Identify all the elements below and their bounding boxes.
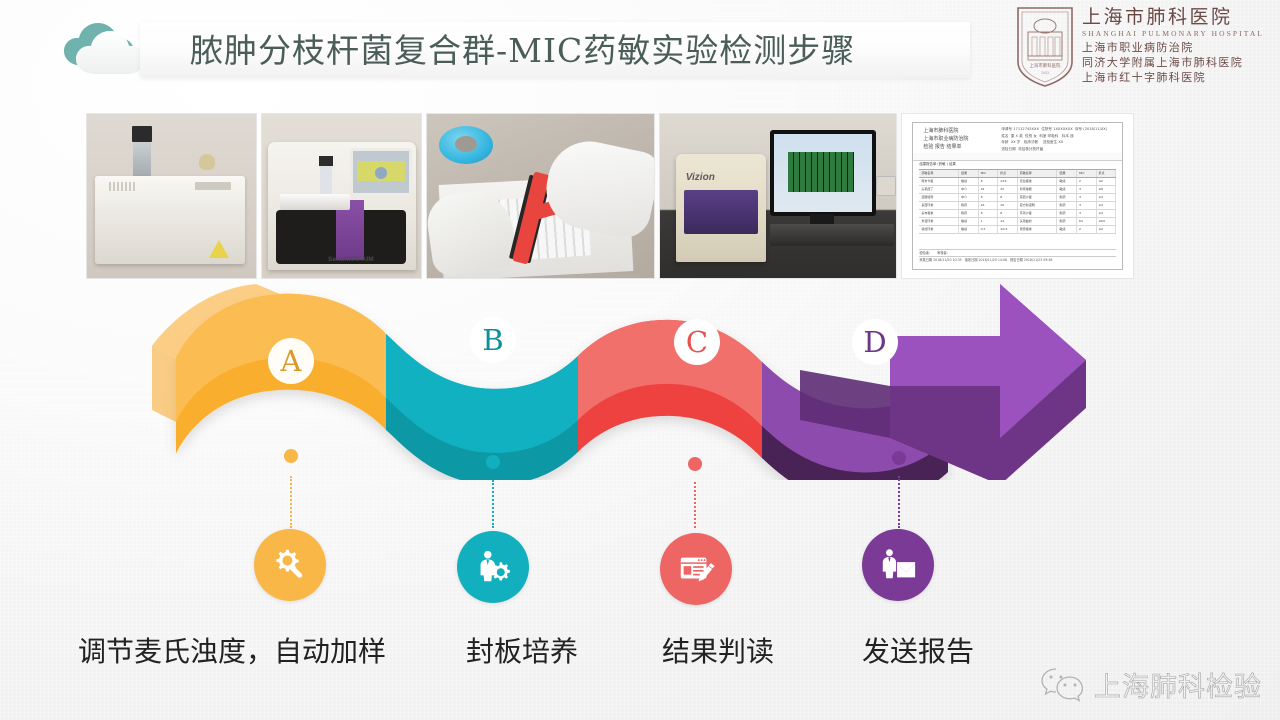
table-cell: 耐药 xyxy=(1057,202,1077,209)
step-badge-C: C xyxy=(674,319,720,365)
watermark: 上海肺科检验 xyxy=(1040,662,1262,706)
step-badge-B: B xyxy=(470,317,516,363)
photo-vizion-reader: Vizion xyxy=(659,113,898,279)
hospital-crest-icon: 上海市肺科医院 1933 xyxy=(1014,4,1076,88)
connector-line-C xyxy=(694,482,698,528)
table-cell: 16 xyxy=(979,202,999,209)
watermark-text: 上海肺科检验 xyxy=(1094,665,1262,704)
report-title-3: 检验 报告 结果单 xyxy=(923,143,968,151)
table-cell: ≤2 xyxy=(1097,226,1117,233)
table-cell: ≤0.5 xyxy=(998,226,1018,233)
svg-text:B: B xyxy=(482,323,503,357)
table-cell: ≥4 xyxy=(1097,210,1117,217)
table-cell: 0.5 xyxy=(979,226,999,233)
table-row: 头孢西丁中介3232利奈唑胺敏感4≤8 xyxy=(919,186,1116,194)
report-section-label: 结果报告单 (药敏 ) 结果 xyxy=(919,161,955,166)
photo-brand-label: Sensititre AIM xyxy=(328,256,374,263)
table-cell: 8 xyxy=(979,194,999,201)
table-col-header: 药敏名称 xyxy=(919,170,959,177)
connector-line-D xyxy=(898,476,902,528)
table-cell: 利奈唑胺 xyxy=(1018,186,1058,193)
table-cell: 头孢曲松 xyxy=(1018,218,1058,225)
table-row: 替加环素敏感0.5≤0.5阿奇霉素敏感2≤2 xyxy=(919,226,1116,234)
connector-line-A xyxy=(290,476,294,528)
table-cell: 耐药 xyxy=(1057,210,1077,217)
report-title-2: 上海市职业病防治院 xyxy=(923,135,968,143)
table-cell: 敏感 xyxy=(1057,226,1077,233)
table-cell: 敏感 xyxy=(959,226,979,233)
table-cell: ≤16 xyxy=(998,178,1018,185)
table-cell: 多西环素 xyxy=(919,202,959,209)
logo-hospital-name-en: SHANGHAI PULMONARY HOSPITAL xyxy=(1082,28,1264,40)
svg-text:D: D xyxy=(863,325,886,359)
photo-brand-label: Vizion xyxy=(686,172,715,183)
logo-subtitle-1: 上海市职业病防治院 xyxy=(1082,40,1264,55)
table-cell: ≤8 xyxy=(1097,186,1117,193)
photo-strip: Sensititre AIM Vizion 上海 xyxy=(86,113,1134,279)
report-table: 药敏名称结果MIC折点药敏名称结果MIC折点 阿米卡星敏感8≤16克拉霉素敏感2… xyxy=(919,169,1116,227)
table-cell: 莫西沙星 xyxy=(1018,194,1058,201)
step-icon-A[interactable] xyxy=(254,529,326,601)
table-cell: ≥4 xyxy=(1097,202,1117,209)
table-cell: 阿奇霉素 xyxy=(1018,226,1058,233)
table-cell: 敏感 xyxy=(1057,186,1077,193)
report-footer: 检验者： 审核者： 采集日期 2018/11/20 10:35 接收日期 201… xyxy=(919,249,1116,263)
table-row: 亚胺培南中介88莫西沙星耐药4≥4 xyxy=(919,194,1116,202)
slide-canvas: 脓肿分枝杆菌复合群-MIC药敏实验检测步骤 上海市肺科医院 1933 xyxy=(0,0,1280,720)
table-col-header: MIC xyxy=(979,170,999,177)
page-title: 脓肿分枝杆菌复合群-MIC药敏实验检测步骤 xyxy=(190,26,1010,76)
slide-header: 脓肿分枝杆菌复合群-MIC药敏实验检测步骤 上海市肺科医院 1933 xyxy=(0,0,1280,100)
table-cell: ≤1 xyxy=(998,218,1018,225)
svg-text:上海市肺科医院: 上海市肺科医院 xyxy=(1030,62,1061,69)
step-caption-A: 调节麦氏浊度，自动加样 xyxy=(78,632,386,672)
form-pencil-icon xyxy=(677,550,715,588)
table-cell: 2 xyxy=(1077,178,1097,185)
gear-wrench-icon xyxy=(271,546,309,584)
step-icon-B[interactable] xyxy=(457,531,529,603)
table-col-header: MIC xyxy=(1077,170,1097,177)
table-cell: 复方新诺明 xyxy=(1018,202,1058,209)
table-cell: 16 xyxy=(998,202,1018,209)
flow-ribbon: A B C D xyxy=(0,270,1280,480)
step-caption-C: 结果判读 xyxy=(662,632,774,672)
photo-plate-sealing xyxy=(426,113,655,279)
ribbon-A-end-face xyxy=(152,346,176,422)
connector-dot-D xyxy=(892,451,906,465)
connector-dot-B xyxy=(486,455,500,469)
photo-incubator-instrument xyxy=(86,113,257,279)
step-badge-D: D xyxy=(852,319,898,365)
wechat-icon xyxy=(1040,666,1086,702)
table-cell: 32 xyxy=(998,186,1018,193)
person-envelope-icon xyxy=(879,546,917,584)
table-cell: 64 xyxy=(1077,218,1097,225)
logo-subtitle-3: 上海市红十字肺科医院 xyxy=(1082,70,1264,85)
step-caption-D: 发送报告 xyxy=(862,632,974,672)
table-row: 妥布霉素耐药88环丙沙星耐药4≥4 xyxy=(919,210,1116,218)
table-cell: 亚胺培南 xyxy=(919,194,959,201)
table-cell: 32 xyxy=(979,186,999,193)
table-cell: 1 xyxy=(979,218,999,225)
table-cell: 中介 xyxy=(959,194,979,201)
table-cell: 敏感 xyxy=(959,218,979,225)
photo-sensititre-aim: Sensititre AIM xyxy=(261,113,422,279)
table-cell: 米诺环素 xyxy=(919,218,959,225)
connector-line-B xyxy=(492,480,496,528)
table-cell: ≥4 xyxy=(1097,194,1117,201)
photo-lab-report: 上海市肺科医院 上海市职业病防治院 检验 报告 结果单 申请号 17112745… xyxy=(901,113,1134,279)
table-cell: 4 xyxy=(1077,202,1097,209)
step-icon-C[interactable] xyxy=(660,533,732,605)
table-cell: 4 xyxy=(1077,194,1097,201)
connector-dot-C xyxy=(688,457,702,471)
table-cell: 8 xyxy=(979,178,999,185)
table-col-header: 折点 xyxy=(998,170,1018,177)
hospital-logo: 上海市肺科医院 1933 上海市肺科医院 SHANGHAI PULMONARY … xyxy=(1014,4,1270,96)
svg-text:A: A xyxy=(280,344,303,378)
table-cell: 2 xyxy=(1077,226,1097,233)
svg-text:1933: 1933 xyxy=(1041,71,1049,75)
table-cell: 头孢西丁 xyxy=(919,186,959,193)
table-cell: 妥布霉素 xyxy=(919,210,959,217)
table-cell: 耐药 xyxy=(1057,194,1077,201)
report-title-1: 上海市肺科医院 xyxy=(923,127,968,135)
table-cell: 敏感 xyxy=(959,178,979,185)
table-row: 阿米卡星敏感8≤16克拉霉素敏感2≤2 xyxy=(919,178,1116,186)
table-cell: ≥64 xyxy=(1097,218,1117,225)
table-col-header: 结果 xyxy=(1057,170,1077,177)
table-cell: 耐药 xyxy=(959,202,979,209)
table-cell: 4 xyxy=(1077,186,1097,193)
table-cell: 耐药 xyxy=(959,210,979,217)
table-cell: 敏感 xyxy=(1057,178,1077,185)
table-cell: 8 xyxy=(998,210,1018,217)
table-row: 米诺环素敏感1≤1头孢曲松耐药64≥64 xyxy=(919,218,1116,226)
table-cell: 中介 xyxy=(959,186,979,193)
table-col-header: 折点 xyxy=(1097,170,1117,177)
step-badge-A: A xyxy=(268,338,314,384)
svg-text:C: C xyxy=(686,325,708,359)
person-gear-icon xyxy=(474,548,512,586)
table-cell: 克拉霉素 xyxy=(1018,178,1058,185)
table-col-header: 药敏名称 xyxy=(1018,170,1058,177)
table-row: 多西环素耐药1616复方新诺明耐药4≥4 xyxy=(919,202,1116,210)
step-icon-D[interactable] xyxy=(862,529,934,601)
table-cell: 4 xyxy=(1077,210,1097,217)
table-cell: ≤2 xyxy=(1097,178,1117,185)
table-cell: 耐药 xyxy=(1057,218,1077,225)
table-cell: 8 xyxy=(979,210,999,217)
logo-subtitle-2: 同济大学附属上海市肺科医院 xyxy=(1082,55,1264,70)
table-header-row: 药敏名称结果MIC折点药敏名称结果MIC折点 xyxy=(919,169,1116,178)
connector-dot-A xyxy=(284,449,298,463)
table-body: 阿米卡星敏感8≤16克拉霉素敏感2≤2头孢西丁中介3232利奈唑胺敏感4≤8亚胺… xyxy=(919,178,1116,234)
logo-hospital-name: 上海市肺科医院 xyxy=(1082,6,1264,28)
table-cell: 环丙沙星 xyxy=(1018,210,1058,217)
table-cell: 8 xyxy=(998,194,1018,201)
step-caption-B: 封板培养 xyxy=(466,632,578,672)
table-cell: 阿米卡星 xyxy=(919,178,959,185)
table-col-header: 结果 xyxy=(959,170,979,177)
table-cell: 替加环素 xyxy=(919,226,959,233)
